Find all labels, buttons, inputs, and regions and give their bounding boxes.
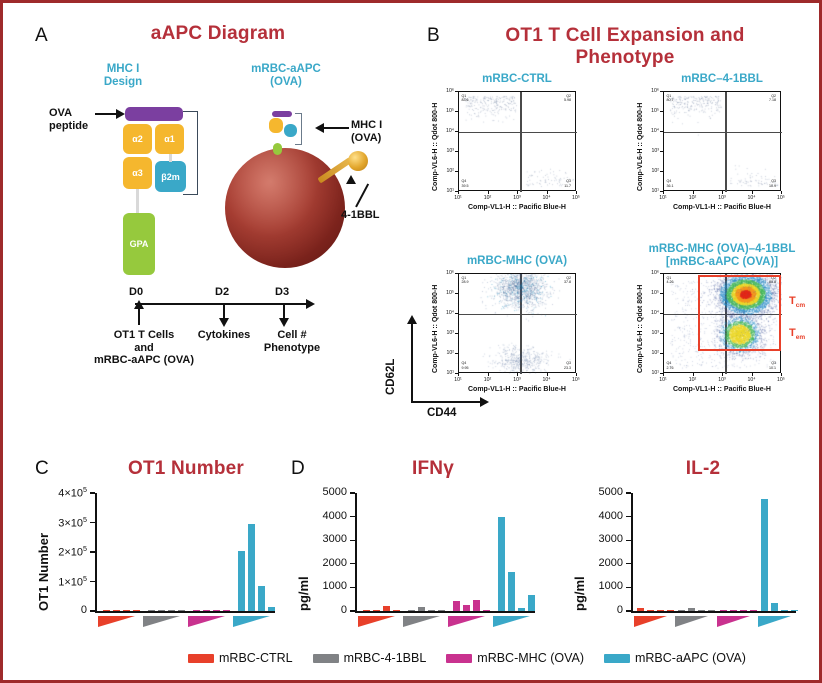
mhc-tether-bracket bbox=[183, 111, 198, 195]
chart-y-tick-label: 0 bbox=[581, 604, 623, 616]
flow-plot-1-yaxis-label: Comp-VL6-H :: Qdot 800-H bbox=[432, 103, 439, 191]
bar bbox=[178, 610, 185, 611]
flow-x-tick bbox=[576, 373, 577, 376]
flow-y-tick bbox=[660, 273, 663, 274]
bar bbox=[483, 610, 490, 611]
chart-y-tick bbox=[350, 587, 355, 588]
flow-x-tick bbox=[576, 191, 577, 194]
flow-y-tick-label: 10⁶ bbox=[644, 270, 659, 276]
bar bbox=[438, 610, 445, 611]
flow-y-tick-label: 10⁶ bbox=[439, 88, 454, 94]
quadrant-id: Q4 bbox=[462, 361, 467, 365]
quadrant-stat-q3: Q310.9 bbox=[769, 179, 776, 188]
flow-x-tick bbox=[488, 191, 489, 194]
flow-y-tick-label: 10¹ bbox=[644, 370, 659, 376]
flow-y-tick-label: 10² bbox=[439, 350, 454, 356]
chart-y-tick-label: 0 bbox=[305, 604, 347, 616]
flow-y-tick-label: 10⁴ bbox=[644, 128, 659, 134]
flow-y-tick-label: 10² bbox=[439, 168, 454, 174]
timeline-day-d2: D2 bbox=[215, 286, 229, 299]
quadrant-value: 10.1 bbox=[769, 366, 776, 370]
bar bbox=[657, 610, 664, 611]
gate-label-sub: cm bbox=[796, 302, 805, 309]
bar bbox=[103, 610, 110, 611]
bar bbox=[750, 610, 757, 611]
chart-x-axis bbox=[631, 611, 796, 613]
quadrant-id: Q1 bbox=[462, 94, 467, 98]
mhc-design-title-line1: MHC I bbox=[107, 63, 140, 75]
group-wedge-mrbc-aapc-ova- bbox=[233, 616, 270, 627]
bar bbox=[418, 607, 425, 611]
bar bbox=[688, 608, 695, 611]
flow-y-tick-label: 10³ bbox=[644, 148, 659, 154]
quadrant-id: Q3 bbox=[771, 361, 776, 365]
group-wedge-mrbc-ctrl bbox=[98, 616, 135, 627]
flow-plot-1-xaxis-label: Comp-VL1-H :: Pacific Blue-H bbox=[438, 204, 596, 211]
quadrant-id: Q2 bbox=[566, 94, 571, 98]
quadrant-stat-q1: Q128.9 bbox=[462, 276, 469, 285]
ova-label-line2: peptide bbox=[49, 120, 88, 132]
bar bbox=[258, 586, 265, 611]
legend-label: mRBC-4-1BBL bbox=[344, 651, 427, 665]
flow-y-tick bbox=[455, 151, 458, 152]
bar bbox=[158, 610, 165, 611]
flow-y-tick bbox=[455, 293, 458, 294]
flow-y-tick bbox=[660, 111, 663, 112]
quadrant-id: Q1 bbox=[667, 276, 672, 280]
panel-d-title-ifng: IFNγ bbox=[343, 458, 523, 480]
legend-item[interactable]: mRBC-aAPC (OVA) bbox=[604, 651, 746, 665]
chart-y-tick bbox=[90, 551, 95, 552]
quadrant-stat-q3: Q310.1 bbox=[769, 361, 776, 370]
chart-y-tick bbox=[626, 492, 631, 493]
flow-x-tick-label: 10³ bbox=[715, 195, 729, 201]
timeline-marker-d2-head bbox=[219, 318, 229, 327]
panel-letter-d: D bbox=[291, 458, 305, 480]
group-wedge-mrbc-4-1bbl bbox=[675, 616, 708, 627]
quadrant-stat-q3: Q311.7 bbox=[564, 179, 571, 188]
bar bbox=[647, 610, 654, 611]
mhc-design-title: MHC I Design bbox=[78, 63, 168, 89]
chart-y-tick bbox=[350, 610, 355, 611]
bar bbox=[113, 610, 120, 611]
flow-y-tick-label: 10² bbox=[644, 350, 659, 356]
bar bbox=[268, 607, 275, 611]
bar bbox=[133, 610, 140, 611]
flow-x-tick bbox=[722, 191, 723, 194]
quadrant-value: 11.7 bbox=[564, 184, 571, 188]
chart-y-tick-label: 3000 bbox=[581, 533, 623, 545]
flow-x-tick-label: 10³ bbox=[715, 377, 729, 383]
chart-y-tick-label: 3000 bbox=[305, 533, 347, 545]
flow-y-tick bbox=[455, 91, 458, 92]
mhc-callout-line1: MHC I bbox=[351, 119, 382, 131]
flow-y-tick bbox=[660, 293, 663, 294]
flow-x-tick-label: 10³ bbox=[510, 195, 524, 201]
flow-y-tick-label: 10⁵ bbox=[644, 108, 659, 114]
group-wedge-mrbc-aapc-ova- bbox=[758, 616, 791, 627]
mhc-callout-line bbox=[323, 127, 349, 129]
chart-y-tick-label: 1×105 bbox=[45, 575, 87, 589]
flow-plot-2-yaxis-label: Comp-VL6-H :: Qdot 800-H bbox=[637, 103, 644, 191]
panel-letter-c: C bbox=[35, 458, 49, 480]
flow-y-tick bbox=[455, 333, 458, 334]
ova-label-line1: OVA bbox=[49, 107, 72, 119]
quadrant-value: 80.7 bbox=[667, 98, 674, 102]
bar bbox=[393, 610, 400, 611]
flow-plot-3-title: mRBC-MHC (OVA) bbox=[416, 255, 618, 268]
quadrant-id: Q1 bbox=[667, 94, 672, 98]
flow-plot-4-title-line1: mRBC-MHC (OVA)–4-1BBL bbox=[649, 243, 796, 255]
chart-y-tick bbox=[350, 492, 355, 493]
bar bbox=[791, 610, 798, 611]
panel-c-title: OT1 Number bbox=[91, 458, 281, 480]
quadrant-id: Q3 bbox=[566, 361, 571, 365]
flow-plot-3-box: Q128.9Q237.8Q323.3Q49.95 bbox=[458, 273, 576, 373]
legend-swatch bbox=[188, 654, 214, 663]
flow-y-tick-label: 10⁵ bbox=[439, 290, 454, 296]
flow-x-tick bbox=[722, 373, 723, 376]
quadrant-id: Q2 bbox=[771, 94, 776, 98]
rbc-highlight bbox=[225, 148, 345, 268]
legend-item[interactable]: mRBC-MHC (OVA) bbox=[446, 651, 584, 665]
gate-label-main: T bbox=[789, 295, 796, 307]
figure-root: A aAPC Diagram MHC I Design mRBC-aAPC (O… bbox=[0, 0, 822, 683]
flow-x-tick-label: 10⁵ bbox=[774, 195, 788, 201]
flow-y-tick bbox=[455, 171, 458, 172]
quadrant-value: 5.98 bbox=[564, 98, 571, 102]
flow-x-tick-label: 10¹ bbox=[656, 377, 670, 383]
quadrant-value: 37.8 bbox=[564, 280, 571, 284]
domain-beta2m: β2m bbox=[155, 161, 186, 192]
ova-arrow-head bbox=[116, 109, 125, 119]
chart-y-tick bbox=[350, 563, 355, 564]
bar bbox=[518, 608, 525, 611]
quadrant-id: Q4 bbox=[667, 361, 672, 365]
flow-y-tick-label: 10² bbox=[644, 168, 659, 174]
chart-y-tick bbox=[90, 522, 95, 523]
bar bbox=[498, 517, 505, 611]
bar bbox=[373, 610, 380, 611]
flow-x-tick-label: 10⁵ bbox=[774, 377, 788, 383]
chart-y-tick bbox=[350, 540, 355, 541]
flow-y-tick bbox=[660, 171, 663, 172]
quadrant-value: 4.26 bbox=[667, 280, 674, 284]
chart-y-tick bbox=[350, 516, 355, 517]
flow-x-tick-label: 10² bbox=[686, 377, 700, 383]
timeline-day-d3: D3 bbox=[275, 286, 289, 299]
bar bbox=[148, 610, 155, 611]
chart-y-tick-label: 3×105 bbox=[45, 516, 87, 530]
flow-y-tick-label: 10¹ bbox=[644, 188, 659, 194]
chart-y-tick-label: 2000 bbox=[581, 557, 623, 569]
chart-x-axis bbox=[95, 611, 275, 613]
group-wedge-mrbc-mhc-ova- bbox=[717, 616, 750, 627]
quadrant-stat-q4: Q436.1 bbox=[667, 179, 674, 188]
flow-x-tick bbox=[781, 373, 782, 376]
quadrant-stat-q4: Q439.5 bbox=[462, 179, 469, 188]
chart-y-tick-label: 1000 bbox=[581, 580, 623, 592]
panel-d-title-il2: IL-2 bbox=[623, 458, 783, 480]
legend-label: mRBC-CTRL bbox=[219, 651, 293, 665]
flow-y-tick-label: 10⁴ bbox=[439, 128, 454, 134]
chart-y-tick-label: 1000 bbox=[305, 580, 347, 592]
surface-gpa bbox=[273, 143, 282, 155]
timeline-event-d0-line3: mRBC-aAPC (OVA) bbox=[94, 354, 194, 366]
flow-plot-1-title-line1: mRBC-CTRL bbox=[482, 73, 552, 85]
group-wedge-mrbc-4-1bbl bbox=[143, 616, 180, 627]
flow-x-tick bbox=[663, 191, 664, 194]
bar bbox=[667, 610, 674, 611]
bar bbox=[508, 572, 515, 611]
flow-x-tick bbox=[693, 191, 694, 194]
bar bbox=[248, 524, 255, 611]
flow-x-tick-label: 10⁵ bbox=[569, 377, 583, 383]
flow-y-tick-label: 10⁶ bbox=[644, 88, 659, 94]
bar bbox=[363, 610, 370, 611]
chart-y-tick-label: 2×105 bbox=[45, 545, 87, 559]
bar bbox=[223, 610, 230, 611]
flow-y-tick-label: 10⁵ bbox=[439, 108, 454, 114]
ova-arrow-line bbox=[95, 113, 117, 115]
cd44-axis-label: CD44 bbox=[427, 407, 456, 419]
chart-y-tick bbox=[626, 610, 631, 611]
flow-y-tick bbox=[660, 151, 663, 152]
chart-legend: mRBC-CTRLmRBC-4-1BBLmRBC-MHC (OVA)mRBC-a… bbox=[188, 651, 759, 665]
quadrant-id: Q3 bbox=[566, 179, 571, 183]
flow-y-tick bbox=[455, 111, 458, 112]
flow-y-tick bbox=[455, 313, 458, 314]
chart-y-tick-label: 2000 bbox=[305, 557, 347, 569]
mhc-callout-head bbox=[315, 123, 324, 133]
bbl-callout-label: 4-1BBL bbox=[341, 209, 411, 222]
cd44-axis-line bbox=[411, 401, 481, 403]
flow-x-tick bbox=[547, 373, 548, 376]
chart-y-tick bbox=[626, 540, 631, 541]
quadrant-stat-q4: Q49.95 bbox=[462, 361, 469, 370]
chart-y-axis-title: pg/ml bbox=[572, 576, 587, 611]
flow-x-tick bbox=[752, 373, 753, 376]
chart-y-axis-title: OT1 Number bbox=[36, 533, 51, 611]
bar bbox=[473, 600, 480, 611]
chart-y-tick-label: 5000 bbox=[581, 486, 623, 498]
mhc-gpa-linker bbox=[136, 189, 139, 213]
flow-y-tick-label: 10⁴ bbox=[439, 310, 454, 316]
quadrant-stat-q1: Q14.26 bbox=[667, 276, 674, 285]
flow-y-tick bbox=[455, 131, 458, 132]
chart-y-tick bbox=[90, 610, 95, 611]
timeline-axis-head bbox=[306, 299, 315, 309]
legend-label: mRBC-aAPC (OVA) bbox=[635, 651, 746, 665]
flow-y-tick bbox=[455, 273, 458, 274]
gate-label-main: T bbox=[789, 327, 796, 339]
timeline-event-d2: Cytokines bbox=[189, 329, 259, 342]
bar bbox=[453, 601, 460, 611]
group-wedge-mrbc-mhc-ova- bbox=[188, 616, 225, 627]
bar bbox=[238, 551, 245, 611]
flow-x-tick bbox=[488, 373, 489, 376]
flow-x-tick-label: 10¹ bbox=[451, 195, 465, 201]
legend-swatch bbox=[446, 654, 472, 663]
timeline-marker-d0-head bbox=[134, 300, 144, 309]
cd62l-axis-label: CD62L bbox=[385, 359, 397, 395]
mhc-design-title-line2: Design bbox=[104, 76, 142, 88]
quadrant-stat-q1: Q183.6 bbox=[462, 94, 469, 103]
panel-a-title: aAPC Diagram bbox=[93, 23, 343, 45]
aapc-title: mRBC-aAPC (OVA) bbox=[231, 63, 341, 89]
chart-y-tick bbox=[626, 563, 631, 564]
bar bbox=[708, 610, 715, 611]
chart-y-tick-label: 4×105 bbox=[45, 486, 87, 500]
legend-item[interactable]: mRBC-CTRL bbox=[188, 651, 293, 665]
flow-x-tick-label: 10⁴ bbox=[540, 377, 554, 383]
bar bbox=[383, 606, 390, 611]
flow-y-tick-label: 10³ bbox=[439, 330, 454, 336]
quadrant-id: Q2 bbox=[566, 276, 571, 280]
chart-y-axis bbox=[631, 493, 633, 611]
panel-b-title: OT1 T Cell Expansion and Phenotype bbox=[455, 25, 795, 69]
aapc-title-line2: (OVA) bbox=[270, 76, 302, 88]
bar bbox=[771, 603, 778, 611]
bbl-callout-head bbox=[346, 175, 356, 184]
bar bbox=[678, 610, 685, 611]
flow-plot-4-xaxis-label: Comp-VL1-H :: Pacific Blue-H bbox=[643, 386, 801, 393]
flow-y-tick-label: 10⁶ bbox=[439, 270, 454, 276]
quadrant-stat-q3: Q323.3 bbox=[564, 361, 571, 370]
bbl-head bbox=[348, 151, 368, 171]
quadrant-value: 7.18 bbox=[769, 98, 776, 102]
quadrant-value: 23.3 bbox=[564, 366, 571, 370]
bar bbox=[761, 499, 768, 611]
quadrant-value: 10.9 bbox=[769, 184, 776, 188]
timeline-day-d0: D0 bbox=[129, 286, 143, 299]
bar bbox=[781, 610, 788, 611]
flow-plot-2-xaxis-label: Comp-VL1-H :: Pacific Blue-H bbox=[643, 204, 801, 211]
chart-y-axis bbox=[355, 493, 357, 611]
flow-y-tick-label: 10¹ bbox=[439, 188, 454, 194]
flow-y-tick bbox=[660, 353, 663, 354]
timeline-marker-d3-head bbox=[279, 318, 289, 327]
cd62l-axis-line bbox=[411, 321, 413, 403]
flow-x-tick-label: 10¹ bbox=[451, 377, 465, 383]
flow-x-tick bbox=[458, 191, 459, 194]
flow-x-tick bbox=[458, 373, 459, 376]
legend-swatch bbox=[604, 654, 630, 663]
chart-y-tick-label: 4000 bbox=[305, 510, 347, 522]
flow-y-tick bbox=[660, 313, 663, 314]
flow-y-tick-label: 10⁵ bbox=[644, 290, 659, 296]
legend-swatch bbox=[313, 654, 339, 663]
flow-y-tick-label: 10³ bbox=[439, 148, 454, 154]
bar bbox=[730, 610, 737, 611]
chart-x-axis bbox=[355, 611, 535, 613]
flow-plot-2-events bbox=[664, 92, 782, 192]
flow-x-tick-label: 10³ bbox=[510, 377, 524, 383]
bar bbox=[637, 608, 644, 611]
flow-x-tick-label: 10⁴ bbox=[540, 195, 554, 201]
bar bbox=[428, 610, 435, 611]
flow-plot-1-events bbox=[459, 92, 577, 192]
panel-letter-b: B bbox=[427, 25, 440, 47]
group-wedge-mrbc-ctrl bbox=[358, 616, 395, 627]
surface-tether bbox=[295, 113, 302, 145]
bar bbox=[740, 610, 747, 611]
bbl-callout-line bbox=[355, 183, 369, 207]
group-wedge-mrbc-mhc-ova- bbox=[448, 616, 485, 627]
flow-plot-3-yaxis-label: Comp-VL6-H :: Qdot 800-H bbox=[432, 285, 439, 373]
quadrant-stat-q2: Q27.18 bbox=[769, 94, 776, 103]
flow-x-tick bbox=[547, 191, 548, 194]
quadrant-id: Q3 bbox=[771, 179, 776, 183]
flow-y-tick-label: 10³ bbox=[644, 330, 659, 336]
aapc-title-line1: mRBC-aAPC bbox=[251, 63, 321, 75]
quadrant-value: 2.76 bbox=[667, 366, 674, 370]
legend-label: mRBC-MHC (OVA) bbox=[477, 651, 584, 665]
timeline-event-d0-line2: and bbox=[134, 342, 154, 354]
flow-y-tick bbox=[660, 131, 663, 132]
domain-alpha3: α3 bbox=[123, 157, 152, 189]
chart-y-tick bbox=[90, 492, 95, 493]
quadrant-value: 28.9 bbox=[462, 280, 469, 284]
chart-y-tick-label: 0 bbox=[45, 604, 87, 616]
bar bbox=[213, 610, 220, 611]
quadrant-value: 83.6 bbox=[462, 98, 469, 102]
bar bbox=[528, 595, 535, 611]
flow-x-tick bbox=[752, 191, 753, 194]
bar bbox=[408, 610, 415, 611]
timeline-event-d0-line1: OT1 T Cells bbox=[114, 329, 175, 341]
bar bbox=[463, 605, 470, 611]
chart-y-tick bbox=[626, 516, 631, 517]
flow-x-tick-label: 10⁵ bbox=[569, 195, 583, 201]
flow-y-tick-label: 10⁴ bbox=[644, 310, 659, 316]
flow-plot-3-events bbox=[459, 274, 577, 374]
group-wedge-mrbc-4-1bbl bbox=[403, 616, 440, 627]
flow-y-tick bbox=[660, 91, 663, 92]
quadrant-value: 39.5 bbox=[462, 184, 469, 188]
chart-y-axis-title: pg/ml bbox=[296, 576, 311, 611]
surface-ova-peptide bbox=[272, 111, 292, 117]
chart-y-tick-label: 5000 bbox=[305, 486, 347, 498]
timeline-event-d3-line2: Phenotype bbox=[264, 342, 320, 354]
legend-item[interactable]: mRBC-4-1BBL bbox=[313, 651, 427, 665]
bar bbox=[168, 610, 175, 611]
bar bbox=[193, 610, 200, 611]
flow-x-tick-label: 10¹ bbox=[656, 195, 670, 201]
bar bbox=[720, 610, 727, 611]
quadrant-stat-q4: Q42.76 bbox=[667, 361, 674, 370]
flow-x-tick bbox=[517, 191, 518, 194]
flow-x-tick bbox=[517, 373, 518, 376]
quadrant-stat-q2: Q25.98 bbox=[564, 94, 571, 103]
cd62l-axis-head bbox=[407, 315, 417, 324]
flow-plot-2-box: Q180.7Q27.18Q310.9Q436.1 bbox=[663, 91, 781, 191]
flow-x-tick bbox=[693, 373, 694, 376]
chart-y-axis bbox=[95, 493, 97, 611]
quadrant-stat-q1: Q180.7 bbox=[667, 94, 674, 103]
flow-x-tick bbox=[781, 191, 782, 194]
flow-plot-2-title: mRBC–4-1BBL bbox=[621, 73, 822, 86]
quadrant-value: 9.95 bbox=[462, 366, 469, 370]
flow-plot-3-title-line1: mRBC-MHC (OVA) bbox=[467, 255, 567, 267]
flow-plot-3-xaxis-label: Comp-VL1-H :: Pacific Blue-H bbox=[438, 386, 596, 393]
mhc-callout-label: MHC I (OVA) bbox=[351, 119, 411, 144]
quadrant-id: Q4 bbox=[667, 179, 672, 183]
timeline-event-d3-line1: Cell # bbox=[277, 329, 306, 341]
memory-gate-box[interactable] bbox=[698, 275, 781, 351]
timeline-axis bbox=[135, 303, 307, 305]
flow-x-tick-label: 10⁴ bbox=[745, 377, 759, 383]
